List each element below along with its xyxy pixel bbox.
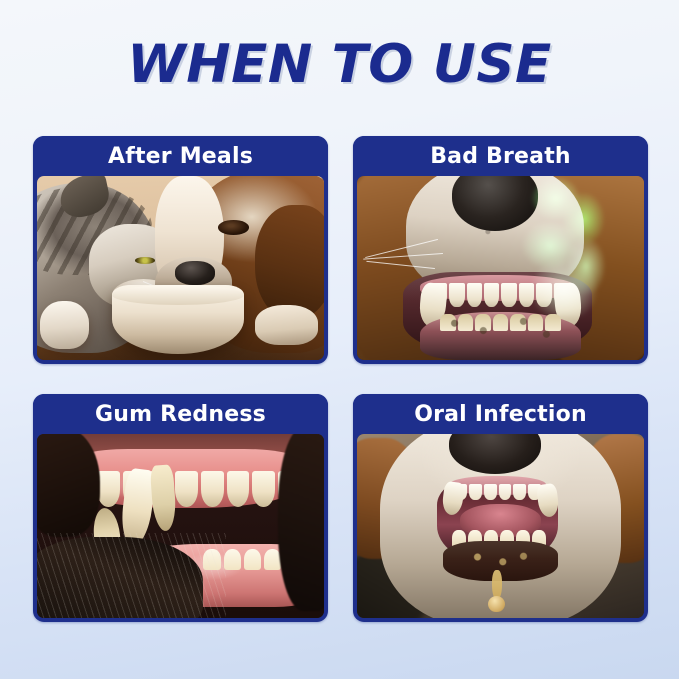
card-image-frame-oral-infection [357,434,644,618]
card-title-gum-redness: Gum Redness [95,402,266,427]
card-image-frame-gum-redness [37,434,324,618]
dog-gum-redness-photo [37,434,324,618]
card-image-frame-bad-breath [357,176,644,360]
drool-droplet [488,596,505,613]
dog-eye [218,220,250,235]
dog-ear [255,205,324,319]
dog-fur-right [278,434,324,611]
dog-oral-infection-photo [357,434,644,618]
dog-bad-breath-photo [357,176,644,360]
green-bad-breath-smoke [495,176,633,316]
cat-and-dog-eating-photo [37,176,324,360]
use-case-card-gum-redness[interactable]: Gum Redness [33,394,328,622]
dog-upper-teeth [455,484,541,501]
card-header-oral-infection: Oral Infection [353,394,648,434]
card-header-after-meals: After Meals [33,136,328,176]
card-title-oral-infection: Oral Infection [414,402,587,427]
use-case-card-bad-breath[interactable]: Bad Breath [353,136,648,364]
dog-fur-left [37,434,100,537]
dog-nose [175,261,215,285]
food-bowl-rim [112,285,244,305]
page-title: WHEN TO USE [127,34,551,95]
card-image-frame-after-meals [37,176,324,360]
use-case-card-after-meals[interactable]: After Meals [33,136,328,364]
cat-paw [40,301,89,349]
fur-hair-texture [37,533,226,618]
use-case-card-oral-infection[interactable]: Oral Infection [353,394,648,622]
card-title-bad-breath: Bad Breath [430,144,571,169]
card-title-after-meals: After Meals [108,144,253,169]
page-title-area: WHEN TO USE [0,0,679,128]
dog-premolar-tooth [150,465,178,533]
use-case-card-grid: After Meals [33,136,648,622]
card-header-bad-breath: Bad Breath [353,136,648,176]
dog-paw [255,305,318,345]
card-header-gum-redness: Gum Redness [33,394,328,434]
infographic-page: WHEN TO USE After Meals [0,0,679,679]
